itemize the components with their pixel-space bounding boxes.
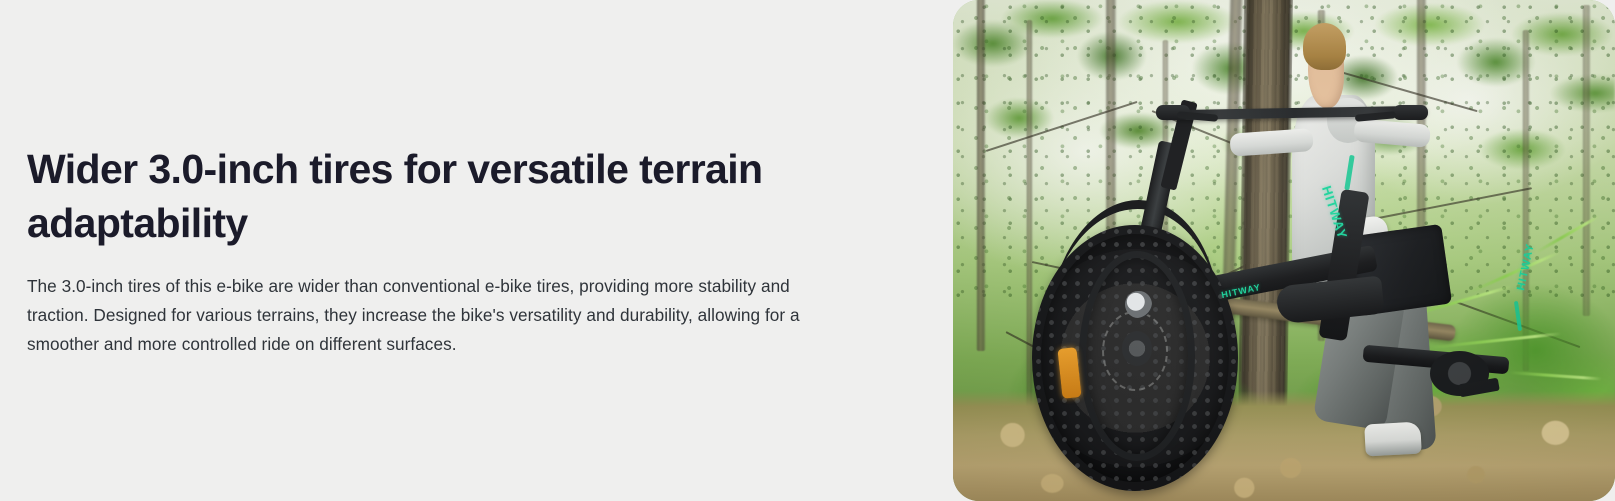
brand-decal-secondary: HITWAY [1516,242,1538,291]
wheel-hub [1122,331,1152,366]
feature-section: Wider 3.0-inch tires for versatile terra… [0,0,1615,501]
frame-accent-stripe [1344,155,1354,190]
forest-ebike-photo: HITWAY HITWAY HITWAY [953,0,1615,501]
feature-image-panel: HITWAY HITWAY HITWAY [953,0,1615,501]
headlight [1125,291,1151,319]
text-panel: Wider 3.0-inch tires for versatile terra… [0,0,953,501]
frame-accent-stripe [1514,300,1522,330]
right-grip [1393,105,1427,120]
feature-description: The 3.0-inch tires of this e-bike are wi… [27,272,832,359]
ebike: HITWAY HITWAY HITWAY [953,0,1615,501]
page-title: Wider 3.0-inch tires for versatile terra… [27,142,827,250]
